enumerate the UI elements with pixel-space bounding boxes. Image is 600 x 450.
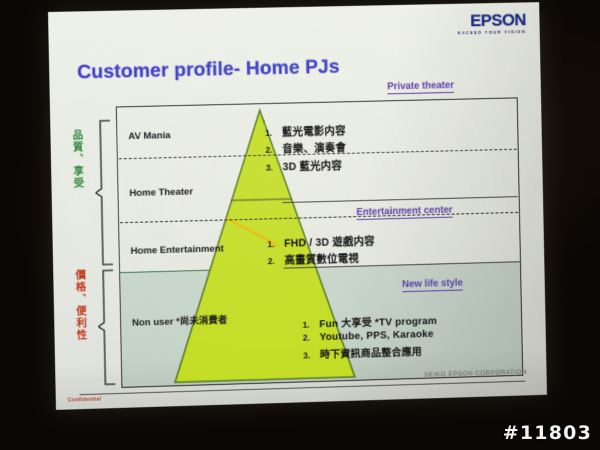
list-item-text: 音樂、演奏會 bbox=[282, 140, 346, 156]
list-item: 2. Youtube, PPS, Karaoke bbox=[303, 329, 438, 344]
slide-title: Customer profile- Home PJs bbox=[77, 56, 340, 85]
axis-label-quality-enjoyment: 品質、享受 bbox=[70, 129, 86, 189]
list-item-number: 3. bbox=[266, 162, 283, 172]
list-item: 1. FHD / 3D 遊戲内容 bbox=[267, 233, 375, 251]
epson-logo-tagline: EXCEED YOUR VISION bbox=[458, 30, 526, 36]
epson-logo: EPSON EXCEED YOUR VISION bbox=[457, 11, 526, 35]
list-item: 3. 時下資訊商品整合應用 bbox=[303, 342, 438, 361]
list-item-number: 1. bbox=[302, 319, 319, 329]
section-list-entertainment-center: 1. FHD / 3D 遊戲内容 2. 高畫質數位電視 bbox=[267, 233, 375, 270]
section-list-private-theater: 1. 藍光電影内容 2. 音樂、演奏會 3. 3D 藍光内容 bbox=[265, 123, 347, 177]
section-list-new-life-style: 1. Fun 大享受 *TV program 2. Youtube, PPS, … bbox=[302, 312, 437, 364]
list-item-number: 1. bbox=[267, 239, 284, 249]
list-item-text: Youtube, PPS, Karaoke bbox=[319, 329, 433, 343]
list-item-text: 藍光電影内容 bbox=[282, 123, 346, 139]
list-item: 2. 音樂、演奏會 bbox=[265, 140, 346, 157]
section-header-new-life-style: New life style bbox=[402, 278, 463, 292]
list-item: 1. Fun 大享受 *TV program bbox=[302, 312, 437, 331]
list-item-text: 3D 藍光内容 bbox=[282, 158, 342, 174]
list-item-number: 2. bbox=[265, 145, 282, 155]
list-item-number: 3. bbox=[303, 350, 320, 360]
list-item-text: 高畫質數位電視 bbox=[284, 251, 359, 268]
brace-price-convenience bbox=[97, 268, 119, 386]
list-item: 2. 高畫質數位電視 bbox=[268, 251, 376, 269]
list-item-number: 2. bbox=[268, 256, 285, 266]
list-item-text: FHD / 3D 遊戲内容 bbox=[284, 233, 375, 250]
list-item-text: 時下資訊商品整合應用 bbox=[320, 343, 422, 361]
photo-watermark: #11803 bbox=[503, 422, 592, 444]
projected-slide: EPSON EXCEED YOUR VISION Customer profil… bbox=[48, 2, 547, 410]
section-header-entertainment-center: Entertainment center bbox=[356, 205, 452, 220]
list-item-number: 1. bbox=[265, 128, 282, 138]
tier-label-av-mania: AV Mania bbox=[128, 130, 170, 142]
axis-label-price-convenience: 價格、便利性 bbox=[73, 269, 89, 341]
section-header-private-theater: Private theater bbox=[387, 80, 454, 94]
footer-confidential: Confidential bbox=[68, 397, 102, 404]
list-item-text: Fun 大享受 *TV program bbox=[319, 312, 437, 330]
epson-logo-wordmark: EPSON bbox=[457, 11, 526, 29]
tier-label-non-user: Non user *尚未消費者 bbox=[132, 312, 228, 329]
list-item: 1. 藍光電影内容 bbox=[265, 123, 346, 140]
brace-quality-enjoyment bbox=[94, 119, 117, 267]
list-item: 3. 3D 藍光内容 bbox=[266, 158, 347, 175]
tier-label-home-theater: Home Theater bbox=[129, 186, 193, 199]
list-item-number: 2. bbox=[303, 333, 320, 343]
